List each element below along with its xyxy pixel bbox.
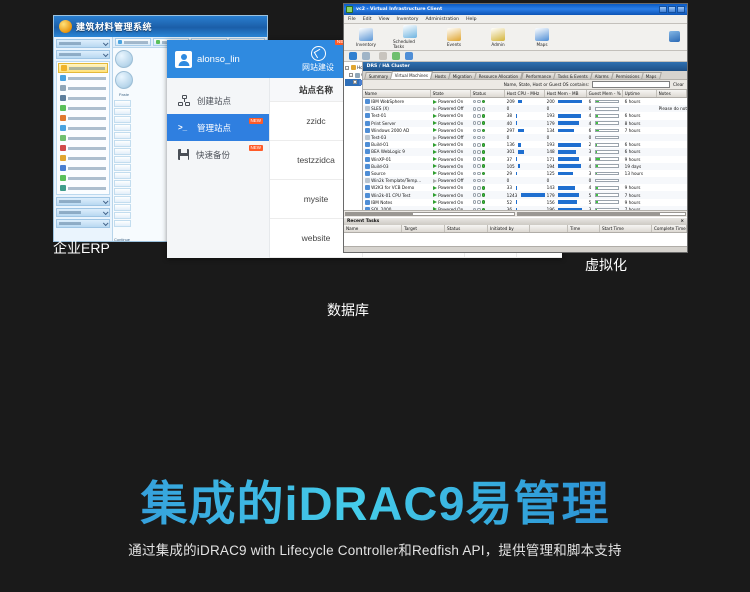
vm-status [471,157,505,161]
cpu-bar [516,121,517,125]
vm-table-row[interactable]: IBM NotesPowered On5215659 hours [363,199,687,206]
power-state-icon [433,200,437,204]
status-dots-icon [473,143,486,147]
page-subtitle: 通过集成的iDRAC9 with Lifecycle Controller和Re… [0,539,750,559]
vi-menu-help[interactable]: Help [466,17,476,22]
db-menu-label: 快速备份 [196,149,230,161]
vi-tab-summary[interactable]: Summary [364,72,393,79]
status-dots-icon [473,136,486,140]
events-icon [447,28,461,41]
erp-sidebar-item-11[interactable] [58,173,108,183]
erp-sidebar-list[interactable] [56,61,110,195]
vm-icon [365,121,370,126]
vi-toolbar-scheduled-tasks[interactable]: Scheduled Tasks [393,25,427,49]
tree-node-14[interactable]: Source [345,167,361,174]
tree-node-15[interactable]: SQL 2000 [345,175,361,182]
power-state-icon [433,107,437,111]
erp-footer-label: Continue [114,237,130,242]
status-dots-icon [473,150,486,154]
vm-status [471,179,505,183]
vm-uptime: 19 days [623,164,657,169]
erp-title-text: 建筑材料管理系统 [76,20,152,33]
floppy-disk-icon [178,149,189,160]
status-dots-icon [473,164,486,168]
new-badge: NEW [249,118,264,124]
erp-sidebar-group-0[interactable] [56,39,110,48]
vm-col-header-0[interactable]: Name [363,90,431,97]
tree-node-2[interactable]: -DRS / HA Cluster [345,79,361,86]
vm-uptime: 6 hours [623,149,657,154]
vm-icon [365,200,370,205]
vi-toolbar-label: Inventory [356,42,376,47]
vm-table-row[interactable]: Windows 2000 ADPowered On29713467 hours [363,127,687,134]
vm-name: SQL 2000 [363,207,431,210]
power-state-icon [433,179,437,183]
vm-status [471,164,505,168]
vm-name: Build-03 [363,164,431,169]
copy-icon[interactable] [379,52,387,60]
vm-host-mem: 179 [545,193,587,198]
vi-tab-permissions[interactable]: Permissions [611,72,644,79]
vm-host-mem: 125 [545,171,587,176]
vm-table-row[interactable]: Win2k-01 CPU TestPowered On124317957 hou… [363,191,687,198]
vm-state: Powered On [431,113,471,118]
vm-name: Build-01 [363,142,431,147]
task-col-header-3[interactable]: Initiated by [488,225,530,232]
vm-icon [365,157,370,162]
mem-bar [558,129,574,133]
vm-status [471,136,505,140]
virtual-infrastructure-client-window[interactable]: vc2 - Virtual Infrastructure Client File… [343,3,688,253]
vm-host-cpu: 38 [505,113,545,118]
vi-title-text: vc2 - Virtual Infrastructure Client [356,7,442,12]
vm-host-mem: 193 [545,113,587,118]
vm-state: Powered Off [431,178,471,183]
erp-item-icon [60,125,66,131]
vm-table-row[interactable]: Build-01Powered On13619326 hours [363,141,687,148]
status-dots-icon [473,114,486,118]
vm-name: SLES (X) [363,106,431,111]
vm-status [471,100,505,104]
db-user-block[interactable]: alonso_lin [167,40,270,78]
vm-col-header-4[interactable]: Host Mem - MB [545,90,587,97]
power-state-icon [433,100,437,104]
vm-filter-clear-link[interactable]: Clear [673,82,684,87]
vm-name: Win2k Template/Temp... [363,178,431,183]
vm-table-row[interactable]: Test-01Powered On3819346 hours [363,112,687,119]
erp-tab-0[interactable] [115,38,151,46]
vi-menu-administration[interactable]: Administration [425,17,459,22]
erp-sidebar-item-4[interactable] [58,103,108,113]
cpu-bar [516,114,517,118]
tree-node-6[interactable]: Build-01 [345,108,361,115]
task-col-header-7[interactable]: Complete Time [652,225,687,232]
vm-col-header-3[interactable]: Host CPU - MHz [505,90,545,97]
vi-tab-tasks-events[interactable]: Tasks & Events [553,72,593,79]
vi-menu-inventory[interactable]: Inventory [397,17,419,22]
vm-table-row[interactable]: Print ServerPowered On4017948 hours [363,120,687,127]
vm-uptime: 9 hours [623,200,657,205]
tree-node-0[interactable]: -Hosts & Clusters [345,64,361,71]
tree-expander[interactable]: - [345,66,349,70]
erp-sidebar-item-9[interactable] [58,153,108,163]
cpu-bar [518,129,524,133]
erp-sidebar-item-7[interactable] [58,133,108,143]
folder-icon [351,65,356,70]
vm-host-cpu: 29 [505,171,545,176]
vi-nav-bar[interactable] [344,51,687,62]
vm-filter-bar[interactable]: Name, State, Host or Guest OS contains: … [363,79,687,90]
erp-item-icon [60,165,66,171]
vm-host-mem: 200 [545,99,587,104]
power-state-icon [433,136,437,140]
power-state-icon [433,114,437,118]
table-scrollbar[interactable] [517,212,687,216]
tree-expander[interactable]: - [349,73,353,77]
vm-host-mem: 134 [545,128,587,133]
vm-state: Powered On [431,121,471,126]
vi-toolbar-events[interactable]: Events [437,28,471,47]
erp-item-icon [60,75,66,81]
erp-copy-icon[interactable] [115,71,133,89]
erp-sidebar-footer-2[interactable] [56,219,110,228]
tree-node-3[interactable]: esx2r04.demosite.vm [345,86,361,93]
cpu-bar [516,157,517,161]
vm-name: W2K3 for VCB Demo [363,185,431,190]
vi-menu-edit[interactable]: Edit [363,17,372,22]
mem-bar [558,100,582,104]
vm-icon [365,185,370,190]
vm-table-row[interactable]: BEA WebLogic 9Powered On30114836 hours [363,148,687,155]
status-dots-icon [473,193,486,197]
vi-app-icon [346,6,353,13]
vm-table-row[interactable]: WinXP-01Powered On3717189 hours [363,156,687,163]
vm-host-mem: 0 [545,178,587,183]
vi-tab-resource-allocation[interactable]: Resource Allocation [474,72,523,79]
power-state-icon [433,193,437,197]
vm-host-mem: 148 [545,149,587,154]
vi-menu-bar[interactable]: FileEditViewInventoryAdministrationHelp [344,15,687,24]
vm-host-cpu: 0 [505,178,545,183]
vm-icon [365,106,370,111]
erp-item-icon [60,85,66,91]
maps-icon [535,28,549,41]
vm-table-header[interactable]: NameStateStatusHost CPU - MHzHost Mem - … [363,90,687,98]
vm-state: Powered On [431,185,471,190]
vm-state: Powered On [431,99,471,104]
tree-node-13[interactable]: SLES (X) [345,160,361,167]
vm-table-row[interactable]: Build-03Powered On105194419 days [363,163,687,170]
task-col-header-2[interactable]: Status [445,225,488,232]
tree-node-16[interactable]: Test-01 [345,182,361,189]
vm-guest-mem: 2 [587,142,623,147]
vm-guest-mem: 3 [587,207,623,210]
status-dots-icon [473,157,486,161]
cpu-bar [518,143,521,147]
vm-status [471,208,505,210]
inventory-tree[interactable]: -Hosts & Clusters-VDC Datacenter-DRS / H… [344,62,363,210]
mem-bar [558,157,579,161]
vi-tab-performance[interactable]: Performance [521,72,556,79]
tree-node-1[interactable]: -VDC Datacenter [345,71,361,78]
mem-bar [558,121,579,125]
window-controls[interactable] [659,6,685,13]
tree-expander[interactable]: - [353,80,357,84]
vm-table-row[interactable]: IBM WebSpherePowered On20920066 hours [363,98,687,105]
erp-sidebar-footer-0[interactable] [56,197,110,206]
vm-table-row[interactable]: Win2k Template/Temp...Powered Off000 [363,177,687,184]
vm-icon [365,135,370,140]
erp-item-icon [60,155,66,161]
vm-col-header-5[interactable]: Guest Mem - % [587,90,623,97]
erp-item-icon [60,105,66,111]
vi-toolbar-right-icon[interactable] [669,31,680,42]
vm-host-cpu: 52 [505,200,545,205]
tree-node-4[interactable]: esx2r05.demosite.vm [345,94,361,101]
recent-tasks-columns[interactable]: NameTargetStatusInitiated byTimeStart Ti… [344,225,687,233]
mem-bar [558,208,582,210]
vm-col-header-1[interactable]: State [431,90,471,97]
recent-tasks-close-icon[interactable]: × [680,219,684,224]
recent-tasks-title: Recent Tasks [347,219,379,224]
vm-host-mem: 171 [545,157,587,162]
vm-uptime: 13 hours [623,171,657,176]
inventory-icon [359,28,373,41]
vm-host-cpu: 33 [505,185,545,190]
recent-tasks-header: Recent Tasks × [344,217,687,225]
vm-state: Powered On [431,128,471,133]
vm-table-body[interactable]: IBM WebSpherePowered On20920066 hoursSLE… [363,98,687,210]
vi-tab-label: Maps [646,73,657,80]
power-state-icon [433,171,437,175]
status-dots-icon [473,129,486,133]
virtual-machines-table: NameStateStatusHost CPU - MHzHost Mem - … [363,90,687,210]
vm-name: Print Server [363,121,431,126]
power-state-icon [433,150,437,154]
back-icon[interactable] [349,52,357,60]
vm-name: IBM WebSphere [363,99,431,104]
calendar-icon [403,25,417,38]
power-state-icon [433,121,437,125]
power-state-icon [433,186,437,190]
vm-table-row[interactable]: Test-03Powered Off000 [363,134,687,141]
page-title: 集成的iDRAC9易管理 [0,465,750,534]
guest-mem-bar [595,107,619,111]
status-dots-icon [473,179,486,183]
vi-tab-migration[interactable]: Migration [449,72,478,79]
vm-guest-mem: 3 [587,171,623,176]
breadcrumb: DRS / HA Cluster [363,62,687,71]
power-state-icon [433,128,437,132]
vm-table-row[interactable]: SLES (X)Powered Off000Please do not [363,105,687,112]
vi-tab-label: Tasks & Events [558,73,588,80]
vm-host-mem: 196 [545,207,587,210]
mem-bar [558,114,581,118]
vm-filter-input[interactable] [592,81,670,88]
guest-mem-bar [595,114,619,118]
caption-database: 数据库 [327,300,369,320]
status-dots-icon [473,200,486,204]
terminal-icon: >_ [178,122,190,133]
tree-node-8[interactable]: cs-app1 [345,123,361,130]
cpu-bar [518,164,520,168]
erp-sidebar-item-0[interactable] [58,63,108,73]
vm-icon [365,113,370,118]
tree-scrollbar[interactable] [345,212,515,216]
vm-col-header-6[interactable]: Uptime [623,90,657,97]
screenshot-collage: 建筑材料管理系统 Paste [0,0,750,340]
vm-icon [365,178,370,183]
refresh-icon[interactable] [392,52,400,60]
vm-status [471,143,505,147]
power-state-icon [433,157,437,161]
erp-tab-icon [118,40,122,44]
status-dots-icon [473,107,486,111]
search-icon[interactable] [405,52,413,60]
vm-guest-mem: 6 [587,128,623,133]
vi-tab-label: Resource Allocation [479,73,518,80]
vi-title-bar: vc2 - Virtual Infrastructure Client [344,4,687,15]
guest-mem-bar [595,121,619,125]
vm-col-header-2[interactable]: Status [471,90,505,97]
erp-clipboard-icon[interactable] [115,50,133,68]
vm-uptime: 8 hours [623,121,657,126]
task-col-header-5[interactable]: Time [568,225,600,232]
vi-tab-maps[interactable]: Maps [642,72,662,79]
mem-bar [558,164,581,168]
vi-menu-file[interactable]: File [348,17,356,22]
vm-name: IBM Notes [363,200,431,205]
erp-sidebar-item-12[interactable] [58,183,108,193]
erp-sidebar-footer-1[interactable] [56,208,110,217]
db-menu-item-1[interactable]: >_管理站点NEW [167,114,269,141]
db-side-menu[interactable]: 创建站点>_管理站点NEW快速备份NEW [167,78,270,258]
guest-mem-bar [595,186,619,190]
vi-body: -Hosts & Clusters-VDC Datacenter-DRS / H… [344,62,687,210]
erp-title-bar: 建筑材料管理系统 [54,16,267,37]
vi-tab-virtual-machines[interactable]: Virtual Machines [390,71,433,79]
tree-node-7[interactable]: Build-03 [345,116,361,123]
task-col-header-0[interactable]: Name [344,225,402,232]
erp-sidebar-item-1[interactable] [58,73,108,83]
vi-menu-view[interactable]: View [379,17,390,22]
vm-host-mem: 143 [545,185,587,190]
tree-node-11[interactable]: IBM WebSphere [345,145,361,152]
task-col-header-4[interactable] [530,225,568,232]
vm-icon [365,99,370,104]
tree-node-18[interactable]: Test-03 [345,197,361,204]
tree-node-12[interactable]: Print Server [345,153,361,160]
erp-item-icon [60,175,66,181]
erp-item-icon [60,145,66,151]
vm-guest-mem: 4 [587,164,623,169]
tree-node-5[interactable]: BEA WebLogic 9 [345,101,361,108]
horizontal-scrollbar[interactable] [344,210,687,217]
vm-table-row[interactable]: SQL 2000Powered On3619637 hours [363,206,687,210]
vm-name: Test-01 [363,113,431,118]
vi-toolbar-inventory[interactable]: Inventory [349,28,383,47]
user-avatar-icon [175,51,192,68]
guest-mem-bar [595,172,619,176]
vm-table-row[interactable]: SourcePowered On29125313 hours [363,170,687,177]
vm-name: Test-03 [363,135,431,140]
vm-name: Windows 2000 AD [363,128,431,133]
erp-sidebar-item-2[interactable] [58,83,108,93]
db-username: alonso_lin [197,54,240,65]
close-icon[interactable] [677,6,685,13]
vm-status [471,129,505,133]
erp-sidebar-group-1[interactable] [56,50,110,59]
maximize-icon[interactable] [668,6,676,13]
guest-mem-bar [595,200,619,204]
vi-toolbar-label: Maps [536,42,547,47]
erp-item-icon [60,135,66,141]
erp-row-strip[interactable] [114,100,131,228]
erp-sidebar-item-6[interactable] [58,123,108,133]
vm-name: Source [363,171,431,176]
vm-uptime: 6 hours [623,142,657,147]
forward-icon[interactable] [362,52,370,60]
datacenter-icon [355,73,360,78]
vi-toolbar-admin[interactable]: Admin [481,28,515,47]
vm-state: Powered On [431,200,471,205]
tree-node-10[interactable]: IBM Notes [345,138,361,145]
minimize-icon[interactable] [659,6,667,13]
task-col-header-1[interactable]: Target [402,225,445,232]
vm-host-cpu: 301 [505,149,545,154]
task-col-header-6[interactable]: Start Time [600,225,652,232]
vm-name: WinXP-01 [363,157,431,162]
vi-toolbar-maps[interactable]: Maps [525,28,559,47]
vm-host-cpu: 105 [505,164,545,169]
vm-guest-mem: 6 [587,99,623,104]
caption-virtualization: 虚拟化 [585,255,627,275]
vi-tab-alarms[interactable]: Alarms [590,72,614,79]
erp-sidebar-item-8[interactable] [58,143,108,153]
vm-name: Win2k-01 CPU Test [363,193,431,198]
erp-sidebar-item-5[interactable] [58,113,108,123]
vm-host-cpu: 36 [505,207,545,210]
vm-status [471,193,505,197]
tree-node-17[interactable]: Test-02 [345,190,361,197]
erp-toolbox[interactable]: Paste [115,50,133,97]
guest-mem-bar [595,136,619,140]
vi-tab-bar[interactable]: SummaryVirtual MachinesHostsMigrationRes… [363,71,687,79]
mem-bar [558,143,581,147]
cpu-bar [516,172,517,176]
erp-sidebar-item-3[interactable] [58,93,108,103]
guest-mem-bar [595,143,619,147]
db-menu-item-0[interactable]: 创建站点 [167,87,269,114]
vm-notes: Please do not [657,106,687,111]
vi-toolbar[interactable]: InventoryScheduled TasksEventsAdminMaps [344,24,687,51]
vm-guest-mem: 3 [587,149,623,154]
vm-icon [365,142,370,147]
vm-col-header-7[interactable]: Notes [657,90,687,97]
vi-tab-label: Permissions [615,73,639,80]
vm-guest-mem: 5 [587,193,623,198]
db-nav-label: 网站建设 [302,62,334,73]
tree-node-9[interactable]: Exchange 2003 [345,131,361,138]
recent-tasks-body [344,233,687,247]
vm-host-mem: 0 [545,135,587,140]
tree-node-19[interactable]: W2K3 for VCB Demo [345,204,361,210]
erp-sidebar-item-10[interactable] [58,163,108,173]
vm-table-row[interactable]: W2K3 for VCB DemoPowered On3314349 hours [363,184,687,191]
erp-sidebar[interactable] [54,37,113,242]
vm-name: BEA WebLogic 9 [363,149,431,154]
db-menu-item-2[interactable]: 快速备份NEW [167,141,269,168]
